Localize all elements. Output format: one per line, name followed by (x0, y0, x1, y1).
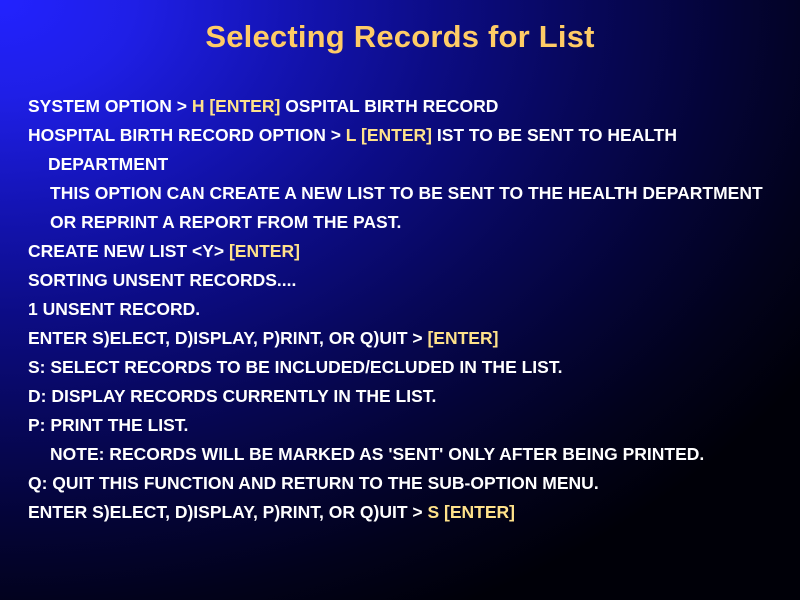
text-line-enter-prompt-2: ENTER S)ELECT, D)ISPLAY, P)RINT, OR Q)UI… (28, 498, 780, 527)
text-line-select-help: S: SELECT RECORDS TO BE INCLUDED/ECLUDED… (28, 353, 780, 382)
text-line-display-help: D: DISPLAY RECORDS CURRENTLY IN THE LIST… (28, 382, 780, 411)
text-line-create-new-list: CREATE NEW LIST <Y> [ENTER] (28, 237, 780, 266)
text-line-system-option: SYSTEM OPTION > H [ENTER] OSPITAL BIRTH … (28, 92, 780, 121)
text-run: THIS OPTION CAN CREATE A NEW LIST TO BE … (50, 183, 763, 232)
presentation-slide: Selecting Records for List SYSTEM OPTION… (0, 0, 800, 600)
text-run: OSPITAL BIRTH RECORD (280, 96, 498, 116)
text-run: SORTING UNSENT RECORDS.... (28, 270, 296, 290)
slide-body: SYSTEM OPTION > H [ENTER] OSPITAL BIRTH … (28, 92, 780, 527)
text-run-highlight: [ENTER] (427, 328, 498, 348)
text-line-enter-prompt-1: ENTER S)ELECT, D)ISPLAY, P)RINT, OR Q)UI… (28, 324, 780, 353)
text-run: SYSTEM OPTION > (28, 96, 192, 116)
text-run-highlight: S [ENTER] (427, 502, 515, 522)
text-run: S: SELECT RECORDS TO BE INCLUDED/ECLUDED… (28, 357, 562, 377)
text-line-sorting-unsent-records: SORTING UNSENT RECORDS.... (28, 266, 780, 295)
text-line-option-description: THIS OPTION CAN CREATE A NEW LIST TO BE … (28, 179, 780, 237)
page-title: Selecting Records for List (0, 18, 800, 56)
text-run-highlight: [ENTER] (229, 241, 300, 261)
text-run: Q: QUIT THIS FUNCTION AND RETURN TO THE … (28, 473, 599, 493)
text-line-hospital-birth-record-option: HOSPITAL BIRTH RECORD OPTION > L [ENTER]… (28, 121, 780, 179)
text-run: 1 UNSENT RECORD. (28, 299, 200, 319)
text-run: CREATE NEW LIST <Y> (28, 241, 229, 261)
text-run-highlight: H [ENTER] (192, 96, 280, 116)
text-run: ENTER S)ELECT, D)ISPLAY, P)RINT, OR Q)UI… (28, 328, 427, 348)
text-line-unsent-record-count: 1 UNSENT RECORD. (28, 295, 780, 324)
text-run: NOTE: RECORDS WILL BE MARKED AS 'SENT' O… (50, 444, 704, 464)
text-line-print-note: NOTE: RECORDS WILL BE MARKED AS 'SENT' O… (28, 440, 780, 469)
text-run: D: DISPLAY RECORDS CURRENTLY IN THE LIST… (28, 386, 436, 406)
text-run: P: PRINT THE LIST. (28, 415, 188, 435)
text-run: ENTER S)ELECT, D)ISPLAY, P)RINT, OR Q)UI… (28, 502, 427, 522)
text-run: HOSPITAL BIRTH RECORD OPTION > (28, 125, 346, 145)
text-run-highlight: L [ENTER] (346, 125, 432, 145)
text-line-quit-help: Q: QUIT THIS FUNCTION AND RETURN TO THE … (28, 469, 780, 498)
text-line-print-help: P: PRINT THE LIST. (28, 411, 780, 440)
